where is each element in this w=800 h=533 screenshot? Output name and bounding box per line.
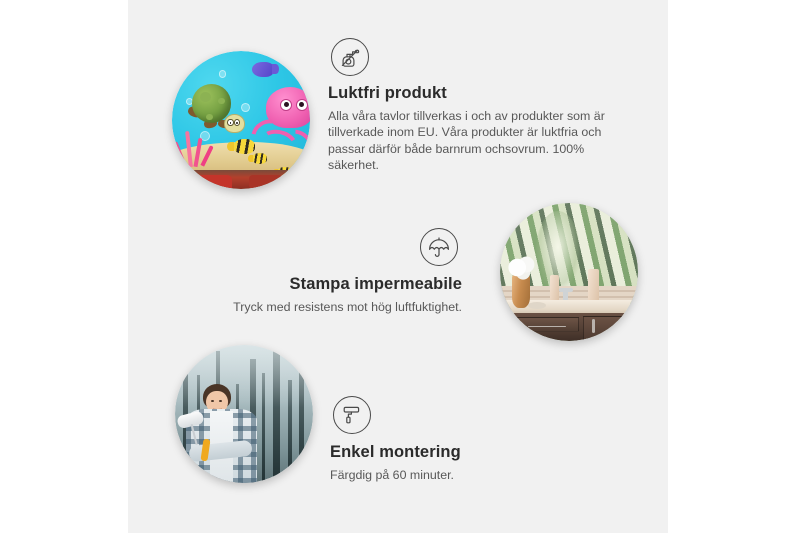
product-photo-underwater [172,51,310,189]
product-feature-graphic: Luktfri produkt Alla våra tavlor tillver… [0,0,800,533]
toiletry-bottle [588,269,599,302]
toiletry-bottle [550,275,560,303]
sea-turtle [187,84,242,134]
feature-title: Luktfri produkt [328,84,630,103]
product-photo-bathroom [500,203,638,341]
feature-icon-wrap [330,396,590,434]
feature-title: Stampa impermeabile [212,275,462,294]
product-photo-painter [175,345,313,483]
feature-easy-mounting: Enkel montering Färgdig på 60 minuter. [330,396,590,483]
wooden-vanity [508,313,638,341]
yellow-fish [252,153,267,164]
paint-roller-icon [333,396,371,434]
feature-odour-free: Luktfri produkt Alla våra tavlor tillver… [328,38,630,174]
feature-title: Enkel montering [330,443,590,462]
blue-fish [252,62,274,77]
feature-description: Färgdig på 60 minuter. [330,467,590,483]
yellow-fish [233,139,255,154]
painter-person [183,384,260,483]
octopus [255,87,310,159]
white-flowers [506,255,539,280]
feature-icon-wrap [212,228,462,266]
no-spray-bottle-icon [331,38,369,76]
feature-icon-wrap [328,38,630,76]
feature-description: Alla våra tavlor tillverkas i och av pro… [328,108,630,174]
umbrella-icon [420,228,458,266]
sunken-ship-deck [172,170,310,189]
feature-waterproof: Stampa impermeabile Tryck med resistens … [212,228,462,315]
feature-description: Tryck med resistens mot hög luftfuktighe… [212,299,462,315]
